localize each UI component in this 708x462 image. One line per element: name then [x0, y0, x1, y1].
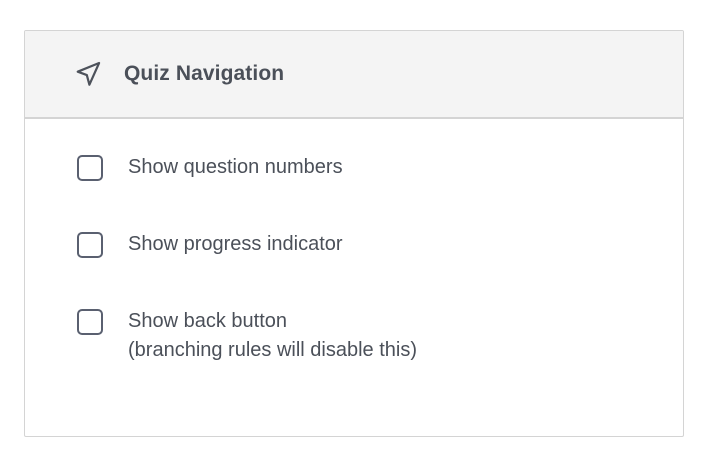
screen: Quiz Navigation Show question numbers Sh…: [0, 0, 708, 462]
option-row-show-progress-indicator[interactable]: Show progress indicator: [25, 230, 683, 259]
card-header: Quiz Navigation: [25, 31, 683, 119]
navigation-arrow-icon: [74, 60, 102, 88]
option-label-show-progress-indicator: Show progress indicator: [128, 230, 343, 259]
quiz-navigation-card: Quiz Navigation Show question numbers Sh…: [24, 30, 684, 437]
option-label-show-back-button: Show back button (branching rules will d…: [128, 307, 417, 365]
option-row-show-back-button[interactable]: Show back button (branching rules will d…: [25, 307, 683, 365]
option-label-show-question-numbers: Show question numbers: [128, 153, 343, 182]
checkbox-show-progress-indicator[interactable]: [77, 232, 103, 258]
page-title: Quiz Navigation: [124, 62, 284, 86]
card-body: Show question numbers Show progress indi…: [25, 119, 683, 365]
option-row-show-question-numbers[interactable]: Show question numbers: [25, 153, 683, 182]
checkbox-show-question-numbers[interactable]: [77, 155, 103, 181]
checkbox-show-back-button[interactable]: [77, 309, 103, 335]
